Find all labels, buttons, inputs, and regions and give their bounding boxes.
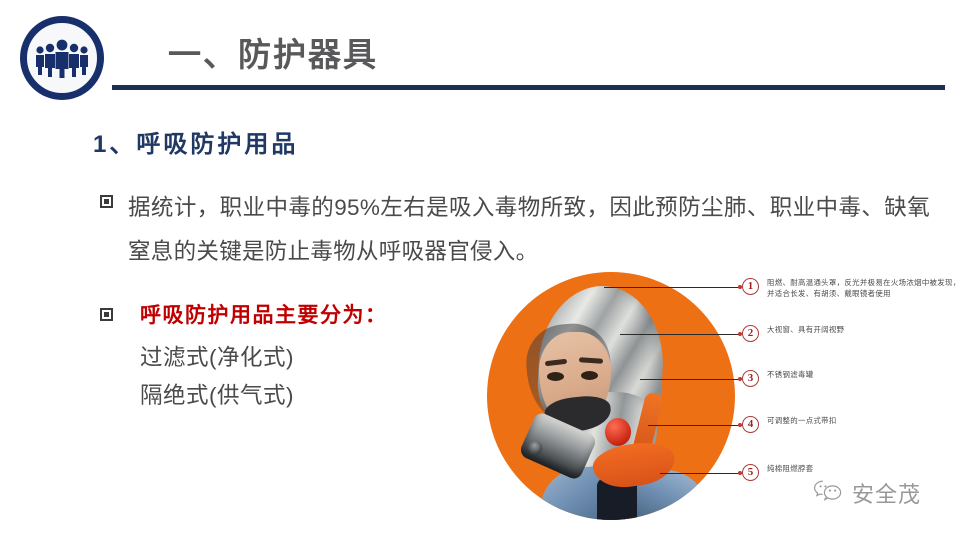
leader-line (620, 334, 740, 335)
callout-item-3: 3 不锈钢滤毒罐 (742, 370, 960, 387)
leader-line (604, 287, 740, 288)
photo-circle-background (487, 272, 735, 520)
callout-number: 3 (742, 370, 759, 387)
leader-line (648, 425, 740, 426)
product-photo (487, 272, 735, 520)
callout-text: 大视窗、具有开阔视野 (767, 325, 844, 336)
list-item: 过滤式(净化式) (140, 339, 294, 377)
people-group-icon (20, 16, 104, 100)
callout-text: 不锈钢滤毒罐 (767, 370, 813, 381)
slide-header: 一、防护器具 (0, 0, 960, 110)
sub-list: 过滤式(净化式) 隔绝式(供气式) (140, 339, 294, 415)
callout-number: 4 (742, 416, 759, 433)
red-heading-bullet-row: 呼吸防护用品主要分为： (100, 299, 500, 329)
valve-shape (605, 418, 631, 446)
callout-number: 1 (742, 278, 759, 295)
wechat-icon (812, 478, 846, 509)
slide-root: 一、防护器具 1、呼吸防护用品 据统计，职业中毒的95%左右是吸入毒物所致，因此… (0, 0, 960, 540)
bullet-square-icon (100, 308, 113, 321)
callout-number: 5 (742, 464, 759, 481)
paragraph-bullet-row: 据统计，职业中毒的95%左右是吸入毒物所致，因此预防尘肺、职业中毒、缺氧窒息的关… (100, 186, 930, 274)
callout-item-4: 4 可调整的一点式带扣 (742, 416, 960, 433)
list-item: 隔绝式(供气式) (140, 377, 294, 415)
section-subtitle: 1、呼吸防护用品 (93, 124, 298, 159)
watermark-text: 安全茂 (852, 477, 921, 509)
callout-number: 2 (742, 325, 759, 342)
red-heading-text: 呼吸防护用品主要分为： (140, 299, 500, 329)
header-divider (112, 85, 945, 90)
leader-line (640, 379, 740, 380)
callout-text: 纯棉阻燃脖套 (767, 464, 813, 475)
watermark: 安全茂 (812, 477, 921, 509)
callout-item-1: 1 阻燃、耐高温通头罩，反光并极易在火场浓烟中被发现，并适合长发、有胡须、戴眼镜… (742, 278, 960, 299)
eye-right (581, 371, 598, 380)
callout-text: 阻燃、耐高温通头罩，反光并极易在火场浓烟中被发现，并适合长发、有胡须、戴眼镜者使… (767, 278, 960, 299)
leader-line (660, 473, 740, 474)
eye-left (547, 372, 564, 381)
paragraph-text: 据统计，职业中毒的95%左右是吸入毒物所致，因此预防尘肺、职业中毒、缺氧窒息的关… (128, 186, 930, 274)
bullet-square-icon (100, 195, 113, 208)
callout-item-2: 2 大视窗、具有开阔视野 (742, 325, 960, 342)
callout-text: 可调整的一点式带扣 (767, 416, 837, 427)
page-title: 一、防护器具 (168, 28, 378, 76)
